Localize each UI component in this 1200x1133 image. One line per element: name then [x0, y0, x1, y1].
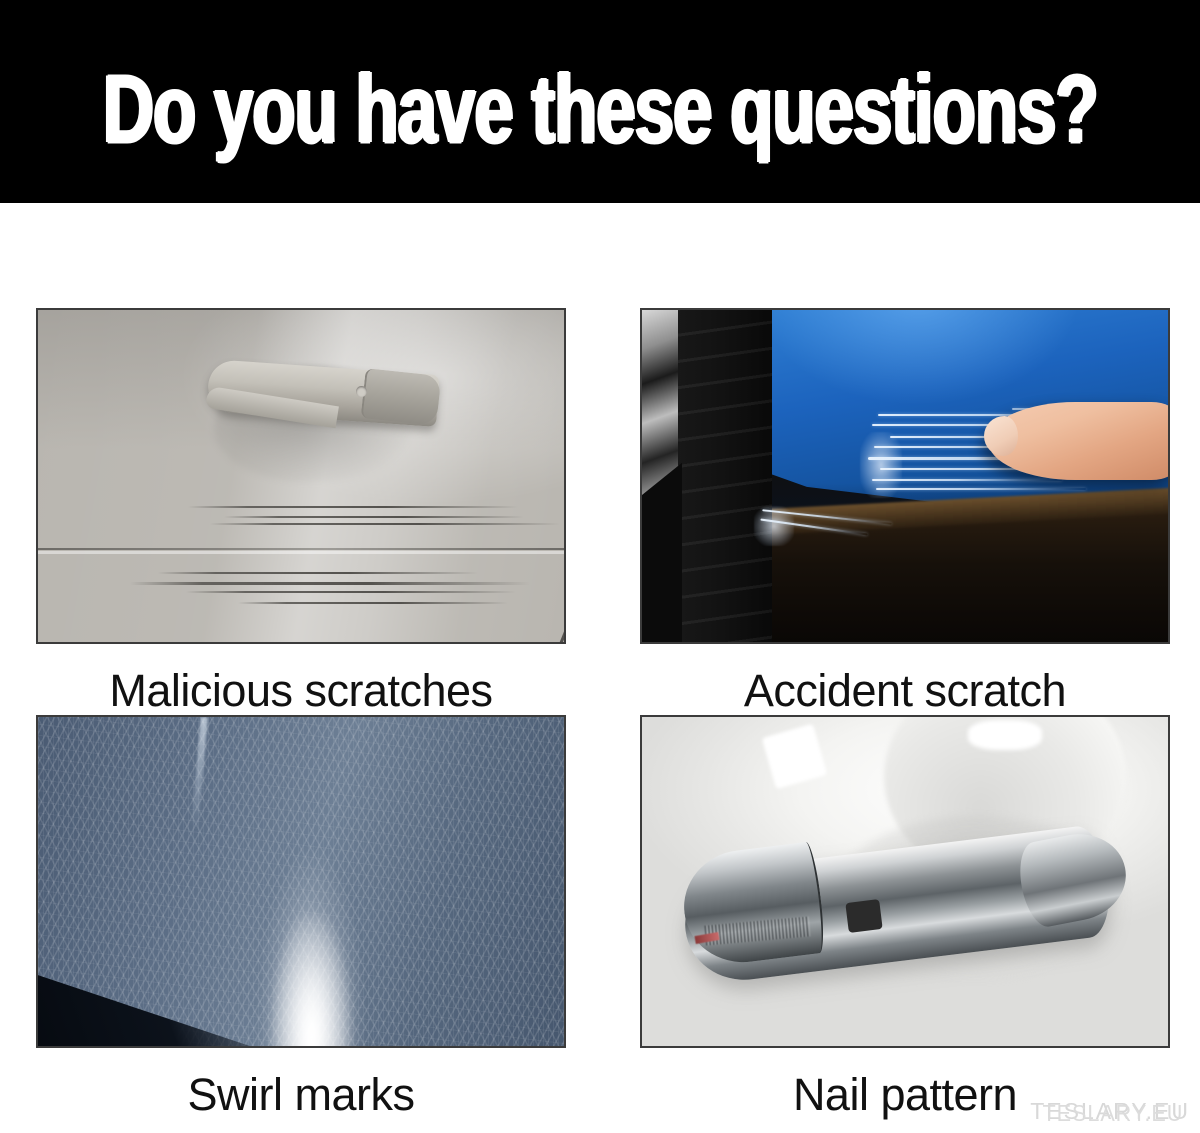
card-caption: Malicious scratches — [36, 644, 566, 713]
card-malicious-scratches[interactable]: Malicious scratches — [36, 308, 566, 715]
card-accident-scratch[interactable]: Accident scratch — [640, 308, 1170, 715]
watermark: TESLARY.EU TESLARY.EU — [1030, 1098, 1190, 1125]
watermark-text-overlay: TESLARY.EU — [1043, 1100, 1184, 1127]
card-nail-pattern[interactable]: Nail pattern — [640, 715, 1170, 1120]
card-caption: Swirl marks — [36, 1048, 566, 1117]
header-banner: Do you have these questions? — [0, 0, 1200, 203]
scratch-type-grid: Malicious scratches — [36, 308, 1170, 1120]
white-door-illustration — [642, 717, 1168, 1046]
scratch-mark — [876, 488, 1086, 490]
poster-root: Do you have these questions? — [0, 0, 1200, 1133]
scratch-mark — [238, 602, 508, 604]
scratch-mark — [186, 591, 516, 593]
scratch-mark — [872, 479, 1062, 481]
image-swirl-marks — [36, 715, 566, 1048]
blue-car-panel-illustration — [642, 310, 1168, 642]
car-door-gray-illustration — [38, 310, 564, 642]
image-accident-scratch — [640, 308, 1170, 644]
scratch-mark — [188, 506, 518, 508]
swirl-paint-illustration — [38, 717, 564, 1046]
keyless-entry-button — [845, 899, 882, 933]
fingernail-icon — [984, 416, 1018, 456]
body-crease-line — [38, 548, 564, 550]
scratch-mark — [224, 516, 524, 518]
sun-glare-core — [269, 914, 353, 1046]
card-swirl-marks[interactable]: Swirl marks — [36, 715, 566, 1120]
page-title: Do you have these questions? — [103, 45, 1098, 158]
scratch-mark — [158, 572, 478, 574]
door-handle-tip — [361, 368, 442, 426]
scratch-mark — [210, 523, 560, 525]
scratch-mark — [130, 582, 530, 585]
card-caption: Accident scratch — [640, 644, 1170, 713]
image-nail-pattern — [640, 715, 1170, 1048]
image-malicious-scratches — [36, 308, 566, 644]
body-crease-highlight — [38, 551, 564, 554]
keyhole-icon — [356, 386, 367, 397]
reflection-highlight — [968, 720, 1042, 750]
